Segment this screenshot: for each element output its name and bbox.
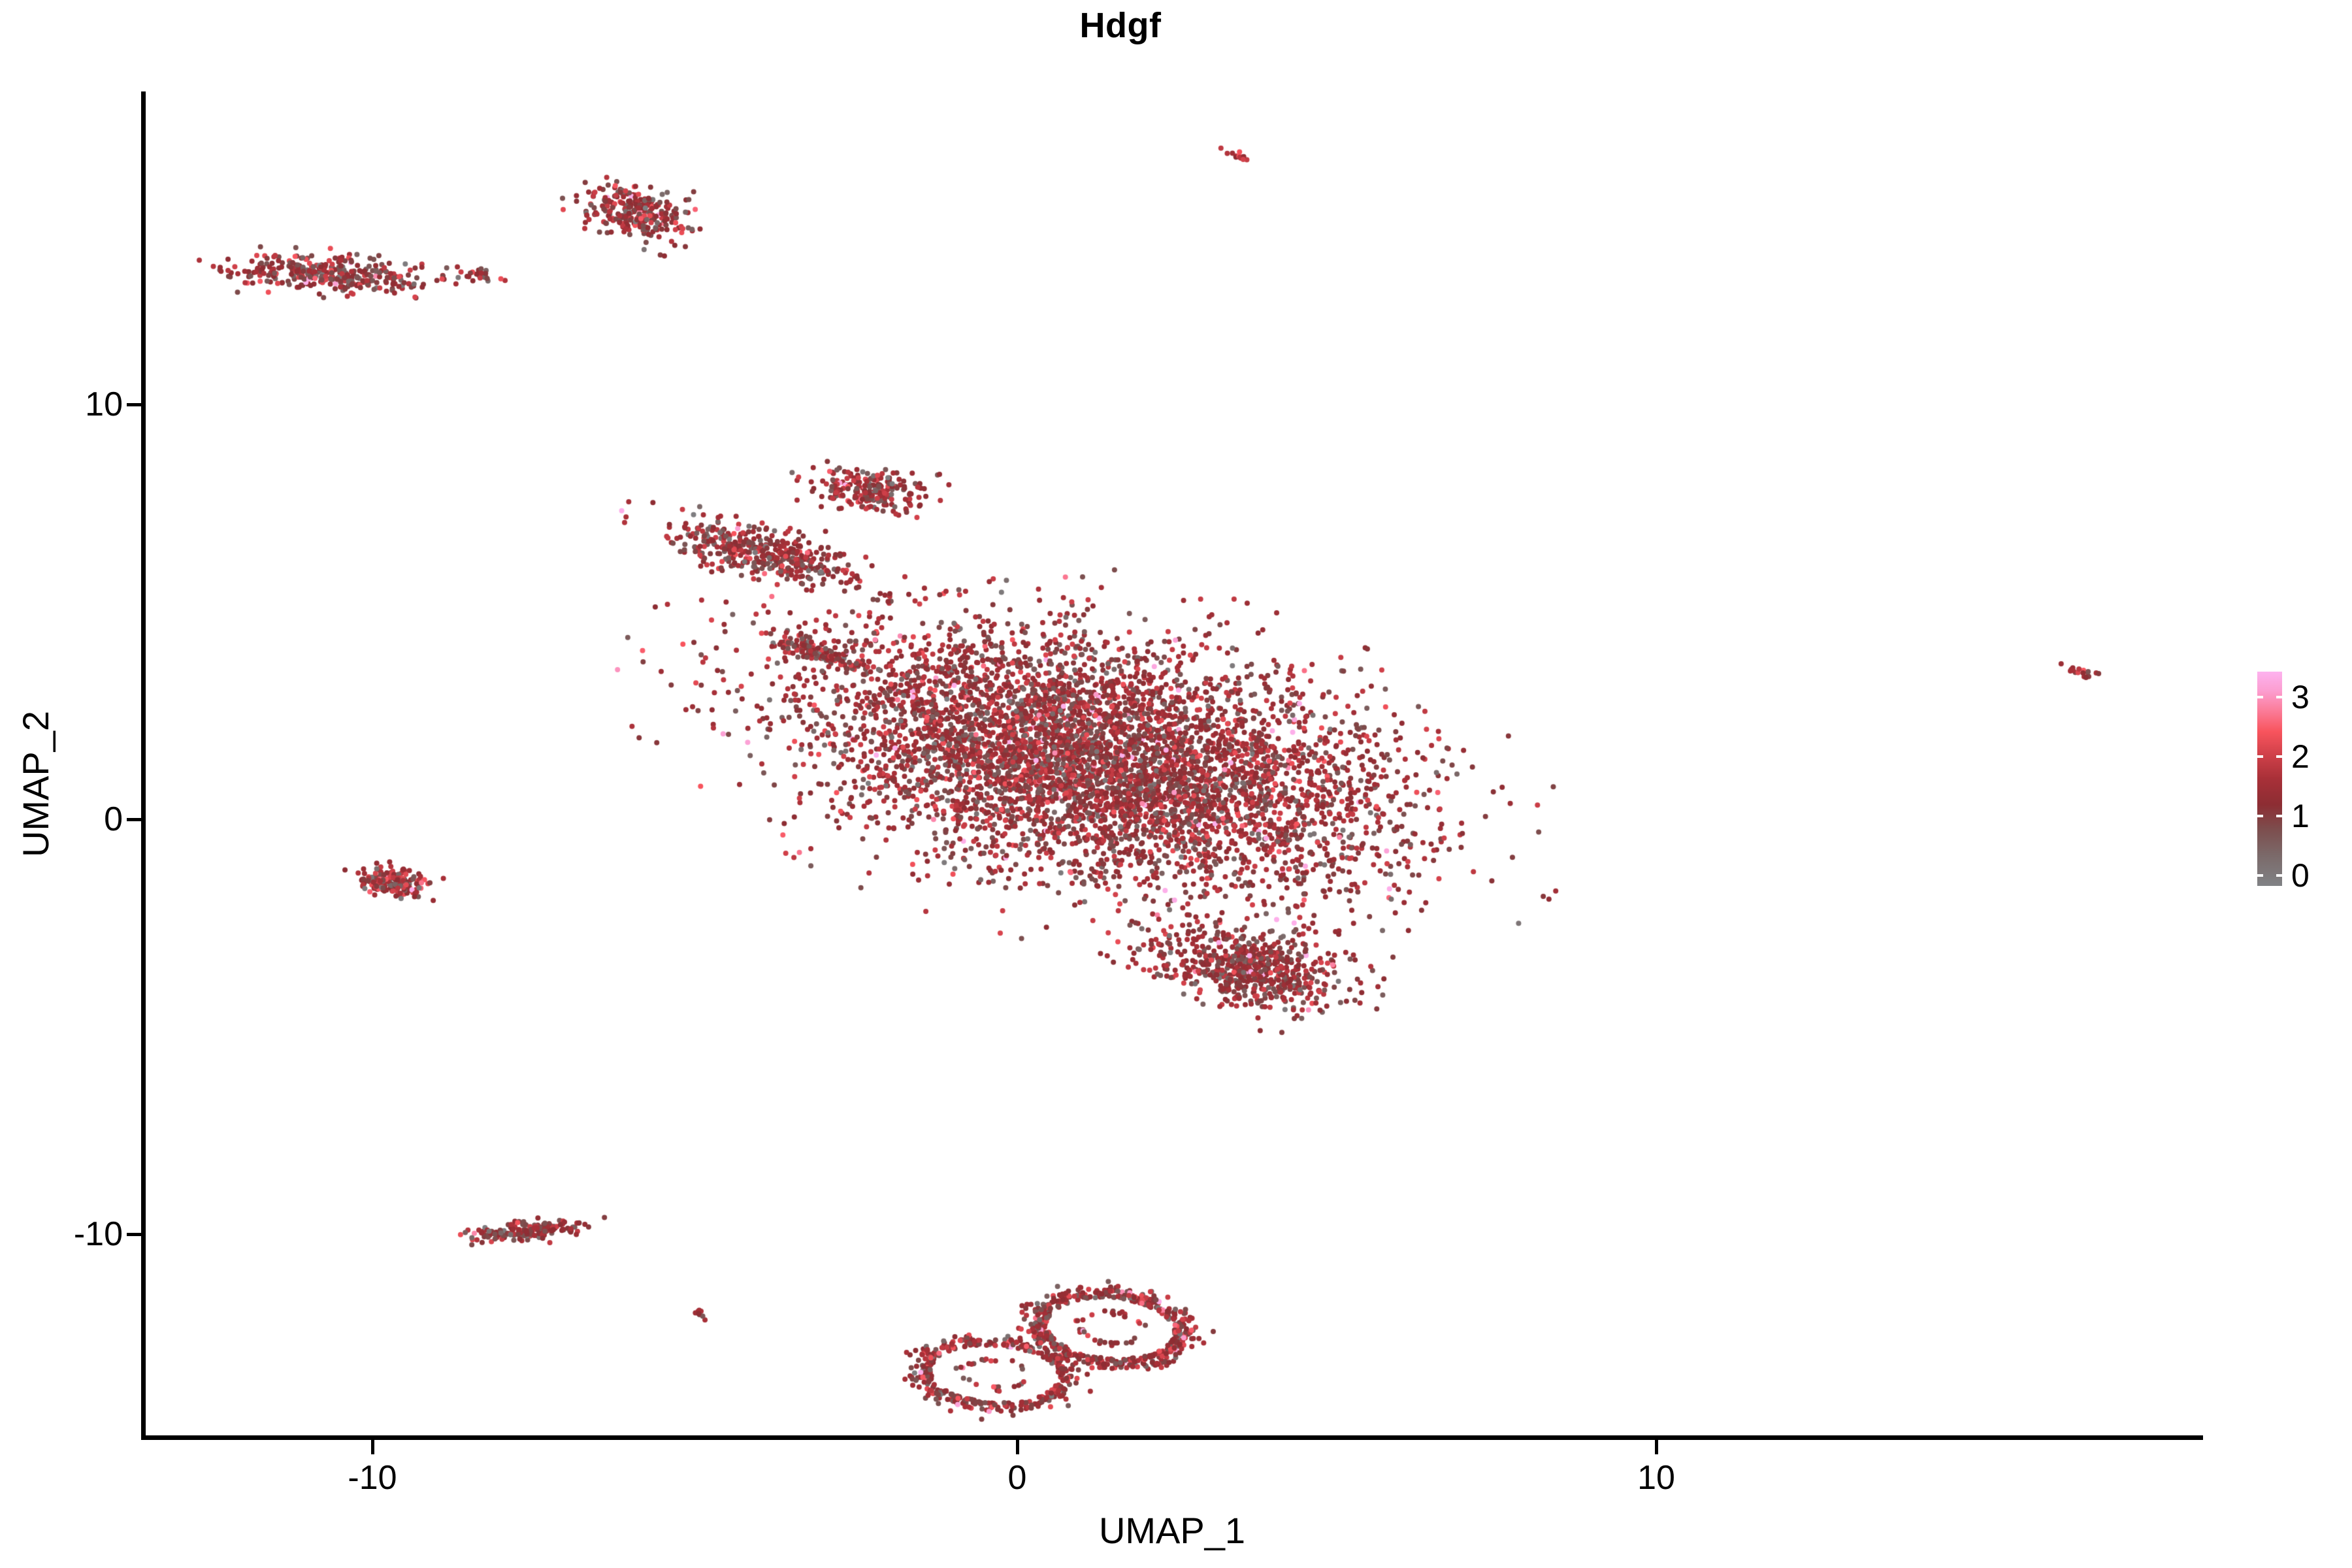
colorbar-label-3: 3 bbox=[2291, 678, 2310, 716]
colorbar-tick-3-left bbox=[2257, 696, 2263, 698]
colorbar-tick-1-left bbox=[2257, 815, 2263, 817]
y-tick-mark-0 bbox=[127, 818, 141, 821]
umap-feature-plot: Hdgf 10 0 -10 -10 0 10 UMAP_1 UMAP_2 3 2… bbox=[0, 0, 2352, 1568]
y-axis-title: UMAP_2 bbox=[0, 0, 72, 1568]
x-tick-label-neg10: -10 bbox=[348, 1458, 397, 1497]
legend-colorbar-group: 3 2 1 0 bbox=[2257, 672, 2342, 894]
colorbar-label-2: 2 bbox=[2291, 738, 2310, 776]
colorbar-tick-2-left bbox=[2257, 755, 2263, 758]
colorbar-label-1: 1 bbox=[2291, 797, 2310, 835]
x-tick-mark-0 bbox=[1016, 1440, 1019, 1454]
y-axis-line bbox=[141, 91, 146, 1440]
colorbar-tick-1-right bbox=[2276, 815, 2282, 817]
x-tick-label-0: 0 bbox=[1008, 1458, 1027, 1497]
x-tick-mark-neg10 bbox=[371, 1440, 374, 1454]
x-tick-mark-10 bbox=[1655, 1440, 1658, 1454]
colorbar-tick-0-left bbox=[2257, 874, 2263, 877]
x-axis-line bbox=[141, 1435, 2203, 1440]
x-axis-title: UMAP_1 bbox=[141, 1509, 2203, 1552]
y-tick-label-neg10: -10 bbox=[74, 1215, 123, 1254]
colorbar-gradient bbox=[2257, 672, 2282, 886]
scatter-points-layer bbox=[144, 91, 2203, 1439]
y-tick-mark-10 bbox=[127, 403, 141, 406]
x-tick-label-10: 10 bbox=[1637, 1458, 1675, 1497]
page-title: Hdgf bbox=[0, 5, 2241, 46]
colorbar-label-0: 0 bbox=[2291, 857, 2310, 894]
y-tick-label-10: 10 bbox=[85, 385, 123, 424]
plot-panel bbox=[144, 91, 2203, 1439]
y-tick-label-0: 0 bbox=[104, 800, 123, 839]
colorbar-tick-0-right bbox=[2276, 874, 2282, 877]
colorbar-tick-2-right bbox=[2276, 755, 2282, 758]
colorbar-tick-3-right bbox=[2276, 696, 2282, 698]
y-tick-mark-neg10 bbox=[127, 1233, 141, 1236]
